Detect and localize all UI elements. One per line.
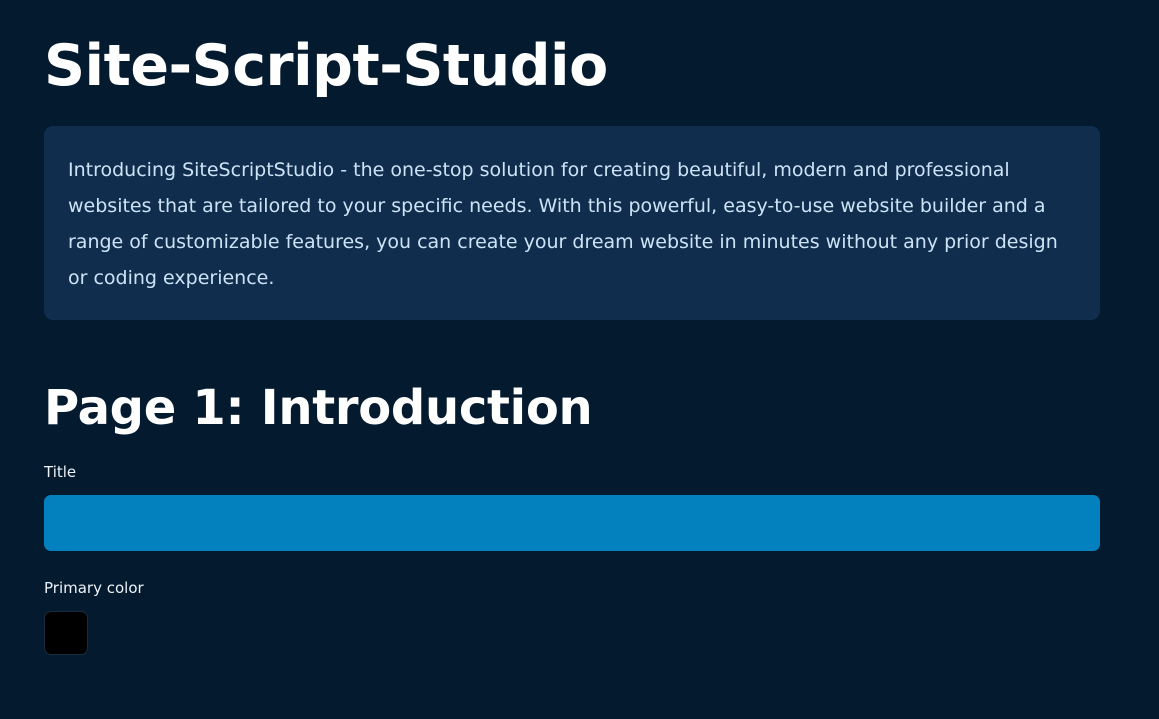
field-title: Title <box>44 463 1115 551</box>
introduction-form: Title Primary color <box>44 437 1115 655</box>
title-field-label: Title <box>44 463 1115 481</box>
app-root: Site-Script-Studio Introducing SiteScrip… <box>0 0 1159 719</box>
title-input[interactable] <box>44 495 1100 551</box>
section-heading: Page 1: Introduction <box>44 320 1115 438</box>
primary-color-swatch[interactable] <box>44 611 88 655</box>
intro-info-box: Introducing SiteScriptStudio - the one-s… <box>44 126 1100 320</box>
primary-color-field-label: Primary color <box>44 579 1115 597</box>
intro-info-text: Introducing SiteScriptStudio - the one-s… <box>68 152 1076 296</box>
field-primary-color: Primary color <box>44 579 1115 655</box>
page-title: Site-Script-Studio <box>44 0 1115 100</box>
